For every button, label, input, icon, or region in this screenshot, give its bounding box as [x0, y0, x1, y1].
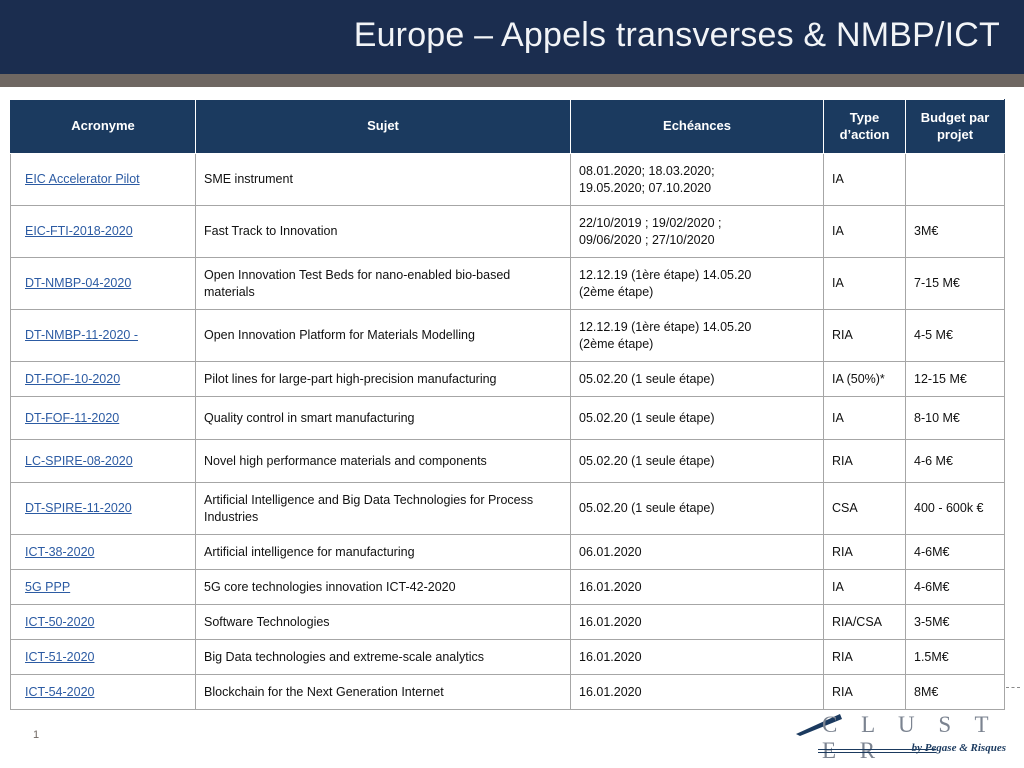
- table-resize-handle[interactable]: [1006, 687, 1020, 688]
- page-number: 1: [33, 729, 39, 741]
- cell-deadline: 22/10/2019 ; 19/02/2020 ; 09/06/2020 ; 2…: [571, 206, 824, 258]
- cell-budget: 4-6M€: [906, 570, 1005, 605]
- cell-budget: 8-10 M€: [906, 397, 1005, 440]
- cell-subject: Open Innovation Test Beds for nano-enabl…: [196, 258, 571, 310]
- cell-budget: 4-5 M€: [906, 310, 1005, 362]
- cell-budget: 400 - 600k €: [906, 483, 1005, 535]
- cell-acronym: LC-SPIRE-08-2020: [11, 440, 196, 483]
- table-row: EIC-FTI-2018-2020Fast Track to Innovatio…: [11, 206, 1005, 258]
- cell-type-of-action: IA: [824, 397, 906, 440]
- title-divider: [0, 74, 1024, 87]
- acronym-link[interactable]: 5G PPP: [25, 580, 70, 594]
- cell-budget: 12-15 M€: [906, 362, 1005, 397]
- title-band: Europe – Appels transverses & NMBP/ICT: [0, 0, 1024, 74]
- cell-subject: 5G core technologies innovation ICT-42-2…: [196, 570, 571, 605]
- cell-type-of-action: CSA: [824, 483, 906, 535]
- acronym-link[interactable]: ICT-50-2020: [25, 615, 94, 629]
- cell-acronym: EIC Accelerator Pilot: [11, 154, 196, 206]
- calls-table: Acronyme Sujet Echéances Type d’action B…: [10, 99, 1005, 710]
- cell-acronym: ICT-50-2020: [11, 605, 196, 640]
- cluster-logo: C L U S T E R by Pegase & Risques: [796, 712, 1008, 758]
- cell-budget: 7-15 M€: [906, 258, 1005, 310]
- cell-acronym: ICT-54-2020: [11, 675, 196, 710]
- cell-deadline: 16.01.2020: [571, 640, 824, 675]
- cell-deadline: 16.01.2020: [571, 675, 824, 710]
- table-header-row: Acronyme Sujet Echéances Type d’action B…: [11, 100, 1005, 154]
- table-row: DT-NMBP-11-2020 -Open Innovation Platfor…: [11, 310, 1005, 362]
- cell-subject: Quality control in smart manufacturing: [196, 397, 571, 440]
- cell-deadline: 05.02.20 (1 seule étape): [571, 397, 824, 440]
- cell-deadline: 16.01.2020: [571, 605, 824, 640]
- column-header-deadline[interactable]: Echéances: [571, 100, 824, 154]
- cell-subject: Artificial intelligence for manufacturin…: [196, 535, 571, 570]
- cell-deadline: 12.12.19 (1ère étape) 14.05.20 (2ème éta…: [571, 258, 824, 310]
- acronym-link[interactable]: LC-SPIRE-08-2020: [25, 454, 133, 468]
- column-header-subject[interactable]: Sujet: [196, 100, 571, 154]
- cell-type-of-action: IA: [824, 570, 906, 605]
- acronym-link[interactable]: DT-FOF-10-2020: [25, 372, 120, 386]
- table-row: ICT-54-2020Blockchain for the Next Gener…: [11, 675, 1005, 710]
- table-row: LC-SPIRE-08-2020Novel high performance m…: [11, 440, 1005, 483]
- cell-deadline: 16.01.2020: [571, 570, 824, 605]
- table-row: DT-FOF-10-2020Pilot lines for large-part…: [11, 362, 1005, 397]
- cell-type-of-action: RIA: [824, 535, 906, 570]
- cell-deadline: 05.02.20 (1 seule étape): [571, 483, 824, 535]
- slide: Europe – Appels transverses & NMBP/ICT A…: [0, 0, 1024, 768]
- cell-acronym: DT-FOF-11-2020: [11, 397, 196, 440]
- cell-type-of-action: IA: [824, 154, 906, 206]
- cell-deadline: 08.01.2020; 18.03.2020; 19.05.2020; 07.1…: [571, 154, 824, 206]
- cell-deadline: 06.01.2020: [571, 535, 824, 570]
- cell-budget: 1.5M€: [906, 640, 1005, 675]
- cell-type-of-action: RIA: [824, 440, 906, 483]
- calls-table-container: Acronyme Sujet Echéances Type d’action B…: [10, 99, 1004, 710]
- cell-acronym: EIC-FTI-2018-2020: [11, 206, 196, 258]
- acronym-link[interactable]: ICT-54-2020: [25, 685, 94, 699]
- table-row: DT-FOF-11-2020Quality control in smart m…: [11, 397, 1005, 440]
- table-row: 5G PPP5G core technologies innovation IC…: [11, 570, 1005, 605]
- acronym-link[interactable]: ICT-38-2020: [25, 545, 94, 559]
- cell-deadline: 12.12.19 (1ère étape) 14.05.20 (2ème éta…: [571, 310, 824, 362]
- table-row: ICT-38-2020Artificial intelligence for m…: [11, 535, 1005, 570]
- cell-subject: Pilot lines for large-part high-precisio…: [196, 362, 571, 397]
- column-header-budget[interactable]: Budget par projet: [906, 100, 1005, 154]
- cell-budget: 8M€: [906, 675, 1005, 710]
- cell-deadline: 05.02.20 (1 seule étape): [571, 440, 824, 483]
- cell-budget: [906, 154, 1005, 206]
- cell-type-of-action: IA: [824, 258, 906, 310]
- table-row: EIC Accelerator PilotSME instrument08.01…: [11, 154, 1005, 206]
- logo-wordmark: C L U S T E R: [822, 712, 1008, 764]
- table-row: DT-SPIRE-11-2020Artificial Intelligence …: [11, 483, 1005, 535]
- acronym-link[interactable]: DT-FOF-11-2020: [25, 411, 119, 425]
- cell-budget: 4-6M€: [906, 535, 1005, 570]
- cell-type-of-action: RIA: [824, 640, 906, 675]
- logo-tagline: by Pegase & Risques: [912, 742, 1006, 754]
- cell-budget: 3-5M€: [906, 605, 1005, 640]
- acronym-link[interactable]: EIC Accelerator Pilot: [25, 172, 140, 186]
- table-body: EIC Accelerator PilotSME instrument08.01…: [11, 154, 1005, 710]
- cell-budget: 4-6 M€: [906, 440, 1005, 483]
- cell-type-of-action: IA: [824, 206, 906, 258]
- table-row: ICT-51-2020Big Data technologies and ext…: [11, 640, 1005, 675]
- acronym-link[interactable]: EIC-FTI-2018-2020: [25, 224, 133, 238]
- cell-acronym: DT-SPIRE-11-2020: [11, 483, 196, 535]
- cell-subject: SME instrument: [196, 154, 571, 206]
- cell-subject: Fast Track to Innovation: [196, 206, 571, 258]
- cell-acronym: ICT-51-2020: [11, 640, 196, 675]
- cell-subject: Open Innovation Platform for Materials M…: [196, 310, 571, 362]
- cell-type-of-action: RIA/CSA: [824, 605, 906, 640]
- acronym-link[interactable]: DT-NMBP-11-2020 -: [25, 328, 138, 342]
- column-header-acronym[interactable]: Acronyme: [11, 100, 196, 154]
- cell-subject: Artificial Intelligence and Big Data Tec…: [196, 483, 571, 535]
- cell-acronym: 5G PPP: [11, 570, 196, 605]
- cell-type-of-action: IA (50%)*: [824, 362, 906, 397]
- acronym-link[interactable]: DT-SPIRE-11-2020: [25, 501, 132, 515]
- cell-budget: 3M€: [906, 206, 1005, 258]
- acronym-link[interactable]: ICT-51-2020: [25, 650, 94, 664]
- cell-acronym: DT-FOF-10-2020: [11, 362, 196, 397]
- column-header-type[interactable]: Type d’action: [824, 100, 906, 154]
- table-head: Acronyme Sujet Echéances Type d’action B…: [11, 100, 1005, 154]
- cell-acronym: ICT-38-2020: [11, 535, 196, 570]
- table-row: DT-NMBP-04-2020Open Innovation Test Beds…: [11, 258, 1005, 310]
- cell-subject: Big Data technologies and extreme-scale …: [196, 640, 571, 675]
- page-title: Europe – Appels transverses & NMBP/ICT: [354, 16, 1000, 55]
- table-row: ICT-50-2020Software Technologies16.01.20…: [11, 605, 1005, 640]
- cell-type-of-action: RIA: [824, 675, 906, 710]
- cell-deadline: 05.02.20 (1 seule étape): [571, 362, 824, 397]
- cell-subject: Novel high performance materials and com…: [196, 440, 571, 483]
- cell-subject: Software Technologies: [196, 605, 571, 640]
- cell-acronym: DT-NMBP-04-2020: [11, 258, 196, 310]
- cell-acronym: DT-NMBP-11-2020 -: [11, 310, 196, 362]
- cell-type-of-action: RIA: [824, 310, 906, 362]
- cell-subject: Blockchain for the Next Generation Inter…: [196, 675, 571, 710]
- acronym-link[interactable]: DT-NMBP-04-2020: [25, 276, 131, 290]
